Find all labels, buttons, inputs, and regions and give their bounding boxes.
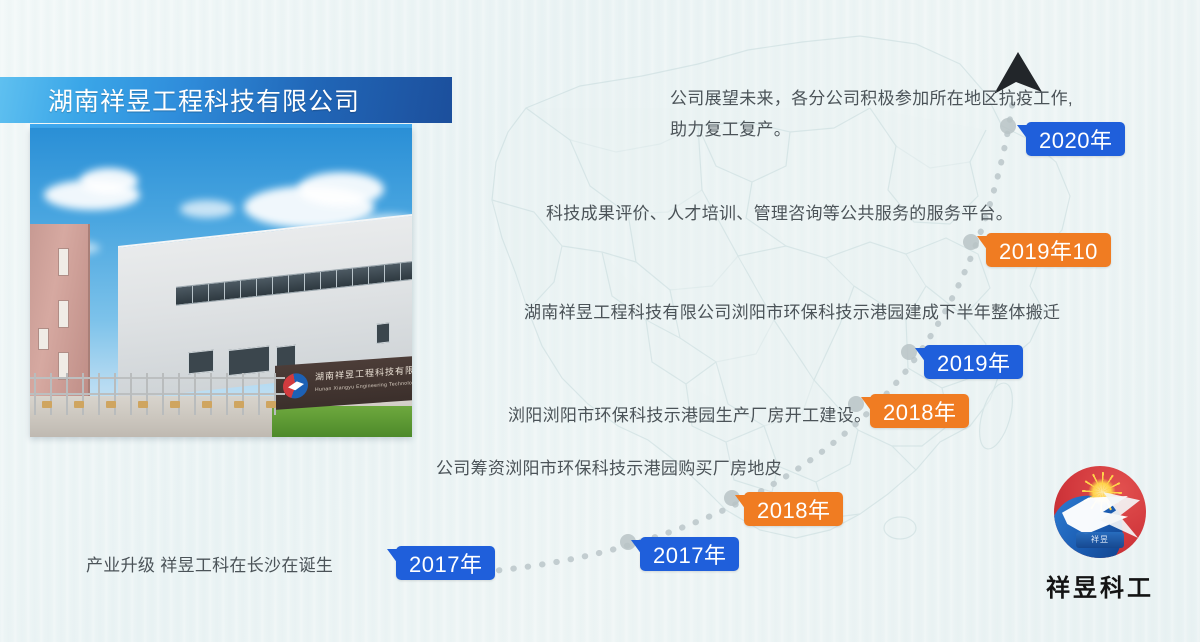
timeline-badge-2018-a[interactable]: 2018年 bbox=[744, 492, 843, 526]
timeline-badge-2017-b[interactable]: 2017年 bbox=[640, 537, 739, 571]
logo-ribbon-text: 祥昱 bbox=[1076, 532, 1124, 548]
event-text-2019-10: 科技成果评价、人才培训、管理咨询等公共服务的服务平台。 bbox=[546, 198, 1013, 229]
timeline-badge-2020[interactable]: 2020年 bbox=[1026, 122, 1125, 156]
event-text-line: 公司展望未来，各分公司积极参加所在地区抗疫工作, bbox=[670, 83, 1073, 114]
event-text-line: 产业升级 祥昱工科在长沙在诞生 bbox=[86, 550, 333, 581]
banner-title: 湖南祥昱工程科技有限公司 bbox=[48, 82, 360, 118]
event-text-line: 公司筹资浏阳市环保科技示港园购买厂房地皮 bbox=[436, 453, 782, 484]
factory-building-photo: 湖南祥昱工程科技有限公司 Hunan Xiangyu Engineering T… bbox=[30, 128, 412, 437]
photo-grass bbox=[272, 406, 412, 437]
event-text-2019: 湖南祥昱工程科技有限公司浏阳市环保科技示港园建成下半年整体搬迁 bbox=[524, 297, 1060, 328]
company-logo-block: 祥昱 祥昱科工 bbox=[1020, 466, 1180, 596]
timeline-badge-2018-b[interactable]: 2018年 bbox=[870, 394, 969, 428]
event-text-2020: 公司展望未来，各分公司积极参加所在地区抗疫工作, 助力复工复产。 bbox=[670, 83, 1073, 145]
photo-window bbox=[376, 322, 390, 344]
photo-window bbox=[228, 345, 270, 376]
logo-wordmark: 祥昱科工 bbox=[1020, 568, 1180, 603]
event-text-2018-b: 浏阳浏阳市环保科技示港园生产厂房开工建设。 bbox=[508, 400, 871, 431]
photo-sign-text-cn: 湖南祥昱工程科技有限公司 bbox=[315, 362, 412, 383]
photo-adjacent-building bbox=[30, 224, 90, 398]
company-name-banner: 湖南祥昱工程科技有限公司 bbox=[0, 77, 452, 123]
photo-window bbox=[188, 350, 214, 375]
photo-gate-fence bbox=[30, 373, 285, 415]
event-text-line: 浏阳浏阳市环保科技示港园生产厂房开工建设。 bbox=[508, 400, 871, 431]
timeline-badge-2017-a[interactable]: 2017年 bbox=[396, 546, 495, 580]
timeline-badge-2019[interactable]: 2019年 bbox=[924, 345, 1023, 379]
event-text-2017-a: 产业升级 祥昱工科在长沙在诞生 bbox=[86, 550, 333, 581]
event-text-2018-a: 公司筹资浏阳市环保科技示港园购买厂房地皮 bbox=[436, 453, 782, 484]
timeline-badge-2019-10[interactable]: 2019年10 bbox=[986, 233, 1111, 267]
event-text-line: 助力复工复产。 bbox=[670, 114, 1073, 145]
photo-cloud bbox=[180, 200, 234, 218]
event-text-line: 湖南祥昱工程科技有限公司浏阳市环保科技示港园建成下半年整体搬迁 bbox=[524, 297, 1060, 328]
timeline-infographic: 湖南祥昱工程科技有限公司 bbox=[0, 0, 1200, 642]
photo-cloud bbox=[298, 172, 384, 206]
photo-sign-logo-icon bbox=[283, 373, 308, 400]
company-logo-icon: 祥昱 bbox=[1054, 466, 1146, 558]
photo-warehouse-clerestory bbox=[176, 261, 412, 306]
photo-cloud bbox=[80, 168, 138, 194]
event-text-line: 科技成果评价、人才培训、管理咨询等公共服务的服务平台。 bbox=[546, 198, 1013, 229]
